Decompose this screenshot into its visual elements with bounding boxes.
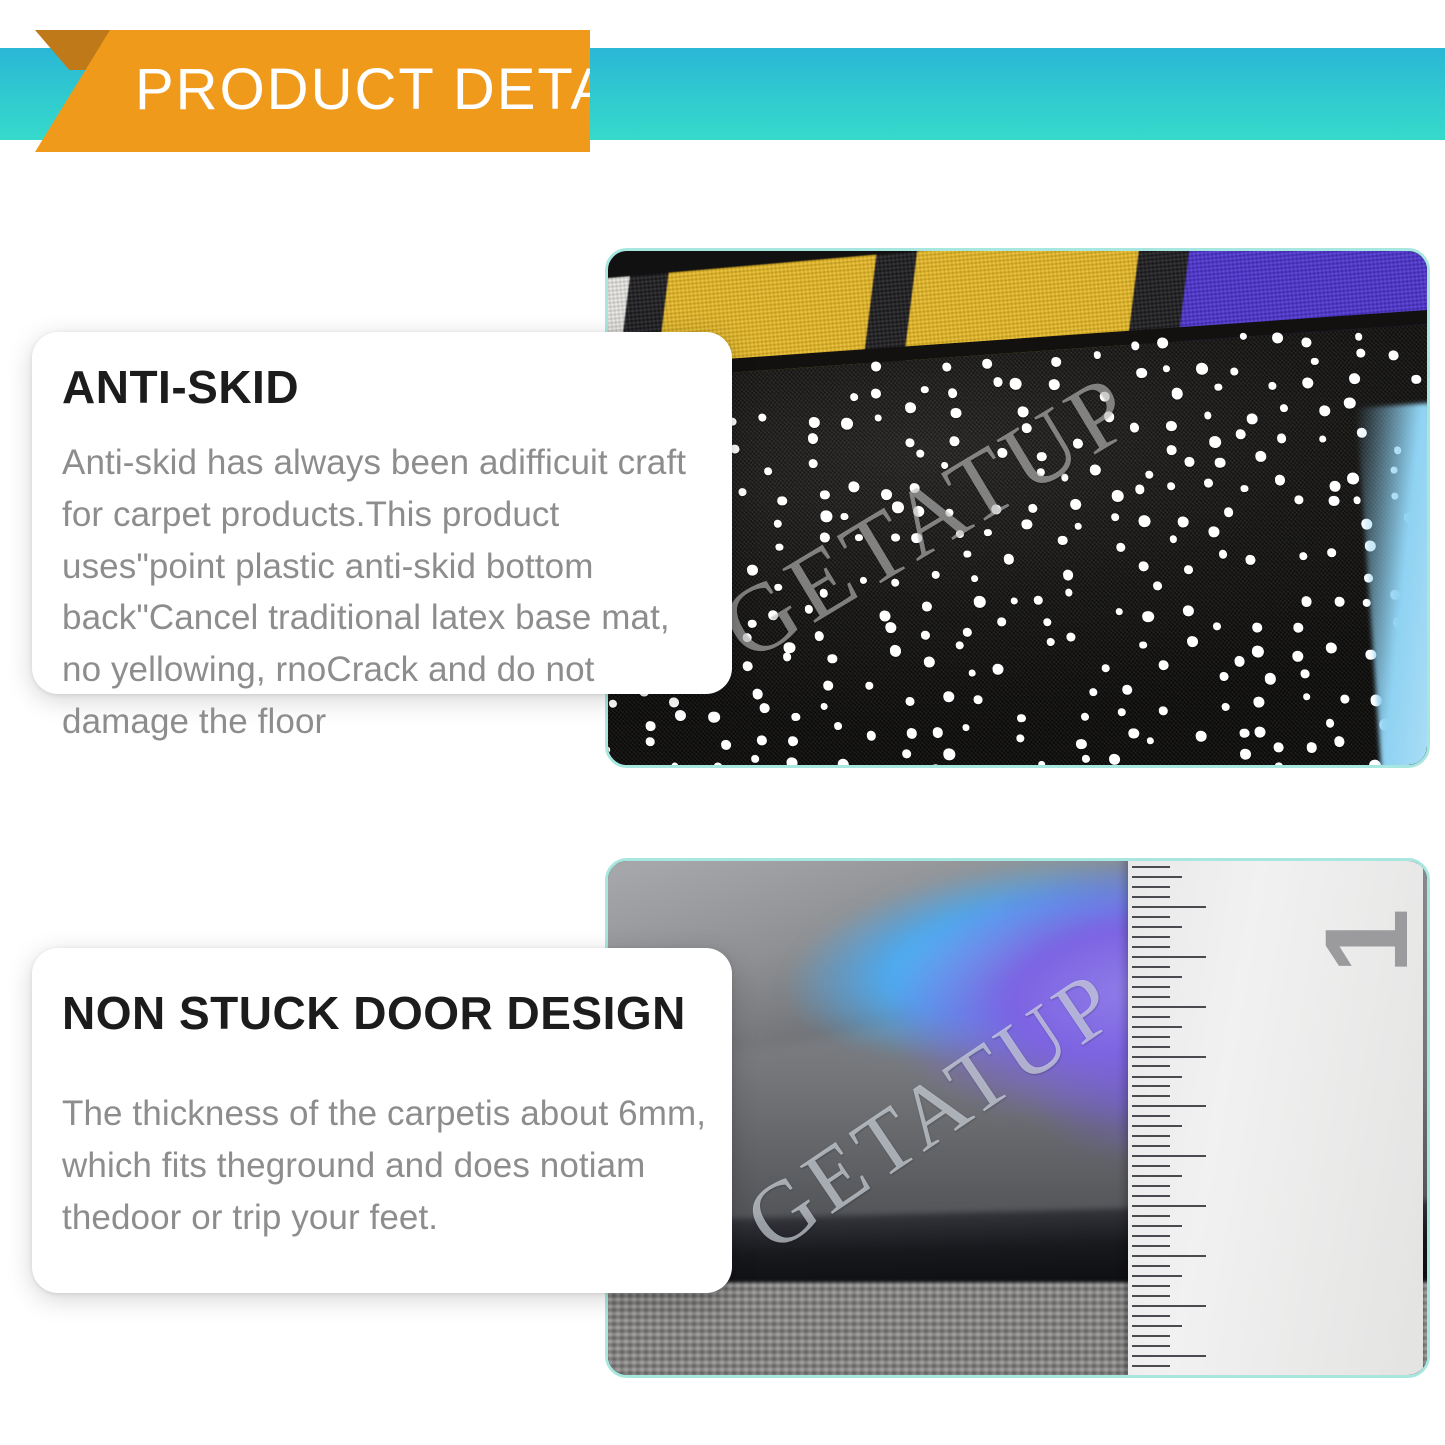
measuring-ruler: 2 1 [1128,861,1423,1375]
ruler-number-1: 1 [1308,908,1423,974]
non-stuck-door-card: NON STUCK DOOR DESIGN The thickness of t… [32,948,732,1293]
non-stuck-door-body: The thickness of the carpetis about 6mm,… [62,1088,710,1243]
non-stuck-door-title: NON STUCK DOOR DESIGN [62,986,686,1040]
product-details-page: PRODUCT DETAILS GETATUP ANTI-SKID Anti-s… [0,0,1445,1445]
section-non-stuck-door: 2 1 GETATUP NON STUCK DOOR DESIGN The th… [0,0,1445,1445]
ruler-tick-marks [1132,861,1210,1375]
